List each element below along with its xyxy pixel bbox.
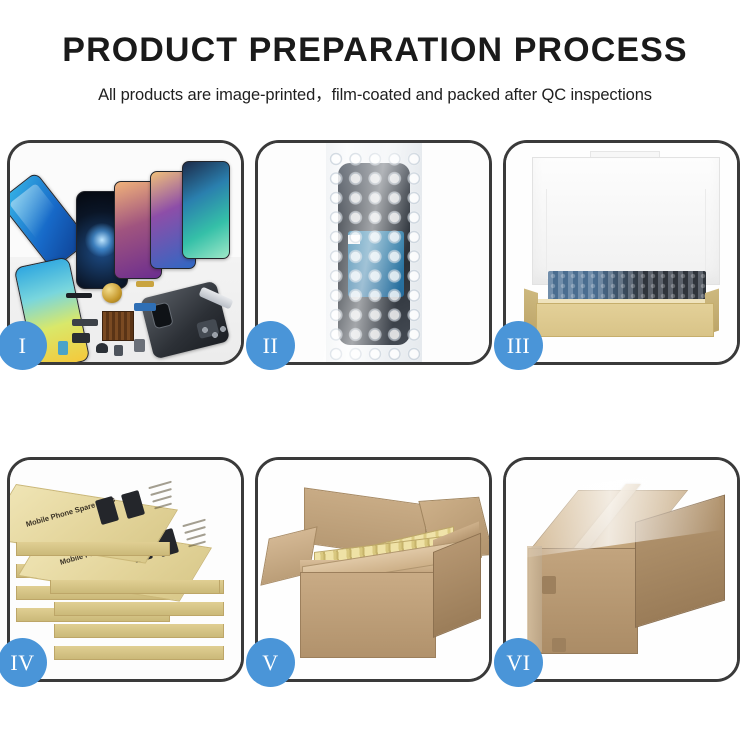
connector-icon (114, 345, 123, 356)
carton-front-face (528, 548, 638, 654)
carton-front-face (300, 572, 436, 658)
process-step-1[interactable]: I (7, 140, 244, 365)
plastic-sheen (258, 143, 489, 362)
flex-cable-icon (72, 319, 98, 326)
charging-port-icon (58, 341, 68, 355)
packing-tape-front (527, 546, 542, 652)
box-edge (50, 580, 220, 594)
step-6-image (506, 460, 737, 679)
process-row-2: Mobile Phone Spare Parts Mobile Phone Sp… (7, 457, 744, 682)
step-badge-3: III (494, 321, 543, 370)
step-2-image (258, 143, 489, 362)
step-badge-6: VI (494, 638, 543, 687)
step-badge-2: II (246, 321, 295, 370)
step-1-image (10, 143, 241, 362)
scene-background (10, 143, 241, 362)
step-5-image (258, 460, 489, 679)
gold-contact-icon (136, 281, 154, 287)
step-badge-4: IV (0, 638, 47, 687)
phone-screen-teal-icon (182, 161, 230, 259)
page-title: PRODUCT PREPARATION PROCESS (0, 0, 750, 67)
step-badge-1: I (0, 321, 47, 370)
process-grid: I II (7, 140, 744, 682)
process-step-4[interactable]: Mobile Phone Spare Parts Mobile Phone Sp… (7, 457, 244, 682)
process-step-2[interactable]: II (255, 140, 492, 365)
battery-connector-icon (134, 303, 156, 311)
box-lid-inner (546, 189, 706, 279)
box-edge (16, 542, 170, 556)
carton-handle-hole-1 (542, 576, 556, 594)
process-step-5[interactable]: V (255, 457, 492, 682)
camera-module-icon (72, 333, 90, 343)
vibrator-icon (96, 343, 108, 353)
process-row-1: I II (7, 140, 744, 365)
step-3-image (506, 143, 737, 362)
chip-grid-icon (102, 311, 134, 341)
box-edge (54, 646, 224, 660)
sim-tray-icon (134, 339, 145, 352)
step-4-image: Mobile Phone Spare Parts Mobile Phone Sp… (10, 460, 241, 679)
box-edge (54, 602, 224, 616)
carton-handle-hole-2 (552, 638, 566, 652)
page-subtitle: All products are image-printed，film-coat… (0, 67, 750, 105)
box-front-icon (536, 303, 714, 337)
page-header: PRODUCT PREPARATION PROCESS All products… (0, 0, 750, 105)
box-edge (54, 624, 224, 638)
process-step-6[interactable]: VI (503, 457, 740, 682)
step-badge-5: V (246, 638, 295, 687)
screws-icon (201, 326, 227, 340)
speaker-coil-icon (102, 283, 122, 303)
process-step-3[interactable]: III (503, 140, 740, 365)
earpiece-mesh-icon (66, 293, 92, 298)
